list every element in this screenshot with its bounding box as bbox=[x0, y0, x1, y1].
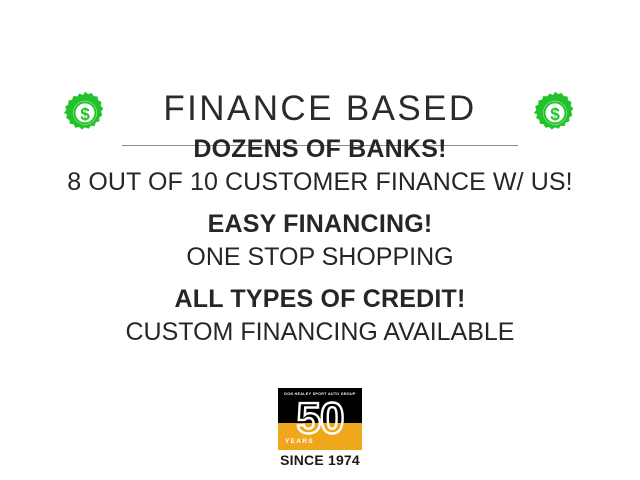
block-subline: CUSTOM FINANCING AVAILABLE bbox=[0, 315, 640, 349]
svg-text:$: $ bbox=[550, 104, 560, 124]
message-block-credit: ALL TYPES OF CREDIT! CUSTOM FINANCING AV… bbox=[0, 283, 640, 349]
block-headline: ALL TYPES OF CREDIT! bbox=[0, 283, 640, 315]
header: $ FINANCE BASED $ bbox=[0, 42, 640, 108]
logo-badge: DON HEALEY SPORT AUTO GROUP 50 YEARS bbox=[278, 388, 362, 450]
block-subline: 8 OUT OF 10 CUSTOMER FINANCE W/ US! bbox=[0, 165, 640, 199]
svg-text:$: $ bbox=[80, 104, 90, 124]
dealer-logo: DON HEALEY SPORT AUTO GROUP 50 YEARS SIN… bbox=[278, 388, 362, 470]
logo-anniversary-number: 50 bbox=[278, 395, 362, 443]
block-headline: EASY FINANCING! bbox=[0, 208, 640, 240]
gear-dollar-icon: $ bbox=[62, 90, 108, 136]
message-block-financing: EASY FINANCING! ONE STOP SHOPPING bbox=[0, 208, 640, 274]
gear-dollar-icon: $ bbox=[532, 90, 578, 136]
block-headline: DOZENS OF BANKS! bbox=[0, 133, 640, 165]
logo-years-label: YEARS bbox=[285, 438, 314, 446]
page-title: FINANCE BASED bbox=[120, 86, 520, 132]
logo-since-text: SINCE 1974 bbox=[278, 452, 362, 469]
block-subline: ONE STOP SHOPPING bbox=[0, 240, 640, 274]
message-block-banks: DOZENS OF BANKS! 8 OUT OF 10 CUSTOMER FI… bbox=[0, 133, 640, 199]
finance-based-slide: $ FINANCE BASED $ DOZENS OF BANKS! 8 OUT… bbox=[0, 0, 640, 480]
